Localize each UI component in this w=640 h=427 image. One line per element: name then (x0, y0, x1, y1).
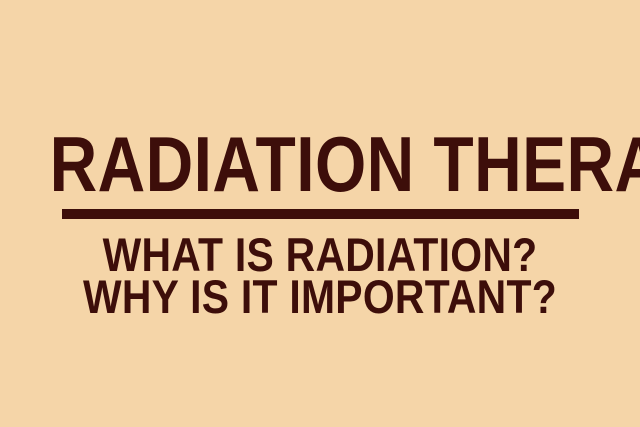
title-slide: RADIATION THERAPY WHAT IS RADIATION? WHY… (0, 0, 640, 427)
divider-container (0, 209, 640, 219)
subtitle-line-2: WHY IS IT IMPORTANT? (42, 276, 599, 318)
title-block: RADIATION THERAPY (0, 126, 640, 202)
subtitle-block: WHAT IS RADIATION? WHY IS IT IMPORTANT? (0, 234, 640, 318)
page-title: RADIATION THERAPY (50, 126, 591, 202)
title-underline-rule (62, 209, 579, 219)
